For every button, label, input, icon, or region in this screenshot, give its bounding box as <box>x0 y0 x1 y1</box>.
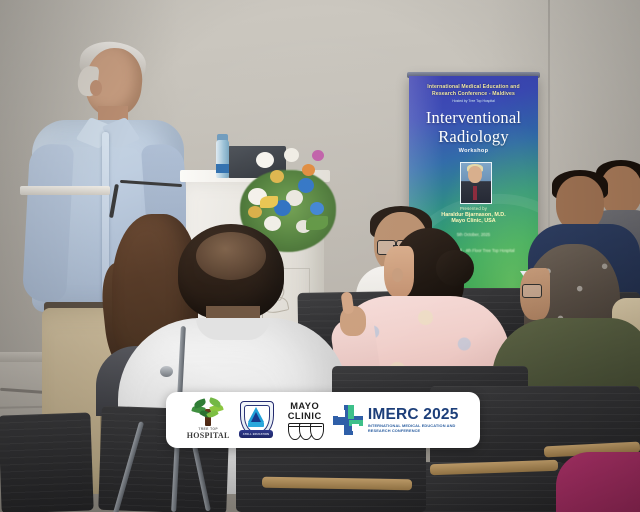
woman-floral-hair-bun <box>436 250 474 286</box>
shield-ribbon: ATOLL EDUCATION <box>239 430 273 438</box>
flower-bloom <box>310 202 324 215</box>
water-bottle-label <box>216 164 229 173</box>
wall-shelf <box>20 186 110 195</box>
logo-imerc-2025: IMERC 2025 INTERNATIONAL MEDICAL EDUCATI… <box>333 405 465 435</box>
flower-petal <box>306 216 328 230</box>
flower-bloom <box>284 148 299 162</box>
tripod-knob <box>160 366 173 377</box>
speaker-photo-tie <box>473 186 477 200</box>
logo-mayo-clinic: MAYO CLINIC <box>277 401 333 440</box>
woman-floral-ear <box>392 268 403 282</box>
man-white-shirt-collar <box>196 318 270 340</box>
flower-bloom <box>298 178 314 193</box>
logo-tree-top-hospital: TREE TOP HOSPITAL <box>181 400 235 440</box>
mayo-three-shields-icon <box>288 423 322 440</box>
sponsor-logo-bar: TREE TOP HOSPITAL ATOLL EDUCATION MAYO C… <box>166 392 480 448</box>
screenshot-root: International Medical Education and Rese… <box>0 0 640 512</box>
flower-bloom <box>302 164 315 176</box>
banner-title-line1: Interventional <box>411 108 536 127</box>
eyeglasses-icon <box>522 284 542 298</box>
shield-ribbon-text: ATOLL EDUCATION <box>243 433 269 436</box>
banner-title: Interventional Radiology <box>411 108 536 146</box>
flower-bloom <box>312 150 324 161</box>
imerc-text-block: IMERC 2025 INTERNATIONAL MEDICAL EDUCATI… <box>368 407 465 433</box>
mayo-shield-bar <box>288 426 322 428</box>
person-magenta-shirt <box>556 452 640 512</box>
banner-title-line2: Radiology <box>411 127 536 146</box>
tree-top-name: HOSPITAL <box>187 431 230 440</box>
presenter-arm-left <box>22 143 74 303</box>
flower-petal <box>260 196 278 208</box>
man-white-shirt-bald-crown <box>196 232 266 280</box>
logo-shield-crest: ATOLL EDUCATION <box>235 400 276 440</box>
shield-crest-icon: ATOLL EDUCATION <box>239 400 273 440</box>
banner-conference-line: International Medical Education and Rese… <box>415 84 532 97</box>
cross-notch <box>352 424 359 431</box>
tree-leaves-icon <box>191 400 225 426</box>
mayo-line1: MAYO <box>290 401 319 411</box>
banner-conference-sub: Hosted by Tree Top Hospital <box>415 99 532 103</box>
flower-bloom <box>264 216 281 231</box>
presenter-ear <box>90 80 102 96</box>
chair <box>0 412 94 512</box>
flower-bloom <box>270 170 284 183</box>
mayo-line2: CLINIC <box>288 411 322 421</box>
banner-workshop-label: Workshop <box>411 148 536 154</box>
shield-triangle-inner <box>251 412 261 422</box>
flower-bloom <box>256 152 274 168</box>
banner-presented-by: Presented by <box>411 206 536 211</box>
medical-cross-icon <box>333 405 361 435</box>
imerc-title: IMERC 2025 <box>368 407 465 423</box>
cross-notch <box>338 410 345 417</box>
shield-base-bar <box>248 422 264 427</box>
speaker-photo-face <box>468 166 482 183</box>
imerc-subtitle: INTERNATIONAL MEDICAL EDUCATION AND RESE… <box>368 423 465 433</box>
cross-accent-vertical <box>348 405 354 419</box>
